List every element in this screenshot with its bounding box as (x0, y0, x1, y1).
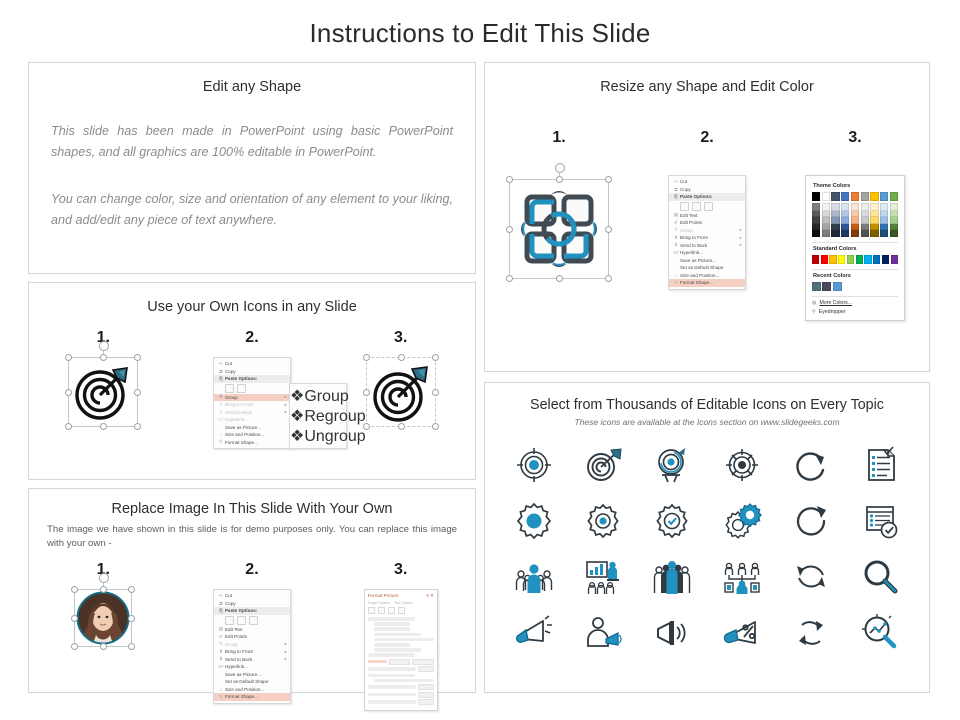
context-submenu-group[interactable]: ❖Group❖Regroup❖Ungroup (289, 383, 347, 449)
menu-item-glyph-icon: ⎘ (217, 608, 225, 613)
theme-tint-swatch[interactable] (831, 230, 839, 237)
theme-tint-swatch[interactable] (861, 203, 869, 211)
menu-item[interactable]: ❖Group▸ (214, 394, 290, 402)
format-picture-panel[interactable]: Format Picture ▾ ✕ Shape Options Text Op… (364, 589, 438, 711)
size-icon[interactable] (388, 607, 395, 614)
edit-shape-body: This slide has been made in PowerPoint u… (29, 95, 475, 231)
standard-color-swatch[interactable] (829, 255, 836, 264)
menu-item[interactable]: ✎Format Shape... (669, 279, 745, 287)
menu-item-glyph-icon: ✂ (672, 179, 680, 185)
theme-color-swatch[interactable] (880, 192, 888, 201)
replace-image-step-3: 3. Format Picture ▾ ✕ Shape Options Text… (327, 561, 474, 711)
menu-item[interactable]: ✐Edit Points (214, 633, 290, 641)
menu-item[interactable]: ὑ7Hyperlink... (214, 416, 290, 424)
menu-item-glyph-icon: ⧉ (217, 601, 225, 606)
menu-item-label: Edit Text (680, 213, 737, 218)
checklist-document-icon[interactable] (857, 443, 903, 487)
theme-tint-swatch[interactable] (822, 230, 830, 237)
theme-tint-swatch[interactable] (870, 203, 878, 211)
menu-item-glyph-icon: ✐ (217, 634, 225, 640)
step-number: 2. (245, 329, 258, 347)
menu-item-glyph-icon: ↕ (672, 273, 680, 278)
own-icons-steps: 1. (29, 329, 475, 449)
paste-option-icon[interactable] (225, 616, 234, 625)
recent-colors-heading: Recent Colors (813, 273, 898, 279)
rotate-arrows-icon[interactable] (788, 611, 834, 655)
crosshair-target-icon[interactable] (511, 443, 557, 487)
menu-item-label: Group (225, 395, 282, 400)
panel-title-icon-library: Select from Thousands of Editable Icons … (485, 397, 929, 413)
megaphone-icon[interactable] (511, 611, 557, 655)
format-pane-header: Format Picture ▾ ✕ (368, 593, 434, 599)
menu-item[interactable]: ⧉Copy (214, 600, 290, 608)
menu-item[interactable]: ⬇Send to Back▸ (214, 409, 290, 417)
menu-item-label: Save as Picture... (225, 672, 282, 677)
recent-color-swatch[interactable] (833, 282, 842, 291)
menu-item[interactable]: ↕Size and Position... (669, 272, 745, 280)
menu-item[interactable]: ⎘Paste Options: (669, 193, 745, 201)
theme-tint-swatch[interactable] (812, 203, 820, 211)
person-megaphone-icon[interactable] (580, 611, 626, 655)
menu-item-glyph-icon: ✂ (217, 361, 225, 367)
effects-icon[interactable] (378, 607, 385, 614)
menu-item-label: Cut (680, 179, 737, 184)
menu-item[interactable]: ὑ7Hyperlink... (669, 249, 745, 257)
menu-item[interactable]: ▤Edit Text (669, 212, 745, 220)
menu-item-glyph-icon: ⬇ (217, 656, 225, 662)
standard-colors-row[interactable] (812, 255, 898, 264)
menu-item-label: Size and Position... (680, 273, 737, 278)
menu-item[interactable]: ⧉Copy (214, 368, 290, 376)
theme-tint-swatch[interactable] (890, 203, 898, 211)
context-menu-format[interactable]: ✂Cut⧉Copy⎘Paste Options:▤Edit Text✐Edit … (213, 589, 291, 704)
paste-options-row[interactable] (669, 201, 745, 212)
option-row[interactable] (374, 633, 422, 637)
paste-option-icon[interactable] (692, 202, 701, 211)
eyedropper-option[interactable]: ⚲ Eyedropper (812, 309, 898, 315)
format-pane-title: Format Picture (368, 593, 399, 599)
width-row[interactable] (368, 684, 434, 690)
theme-tint-swatch[interactable] (861, 230, 869, 237)
submenu-arrow-icon: ▸ (282, 641, 287, 647)
submenu-arrow-icon: ▸ (282, 649, 287, 655)
menu-item-label: Edit Text (225, 627, 282, 632)
menu-item-label: Format Shape... (680, 280, 737, 285)
theme-tint-swatch[interactable] (841, 230, 849, 237)
theme-color-swatch[interactable] (831, 192, 839, 201)
menu-item-glyph-icon: ✎ (217, 439, 225, 445)
menu-item[interactable]: ⎘Paste Options: (214, 607, 290, 615)
menu-item[interactable]: ✎Format Shape... (214, 693, 290, 701)
menu-item-glyph-icon: ὑ7 (217, 664, 225, 669)
menu-item-label: Set as Default Shape (680, 265, 737, 270)
submenu-arrow-icon: ▸ (282, 394, 287, 400)
team-leader-icon[interactable] (511, 555, 557, 599)
theme-color-swatch[interactable] (812, 192, 820, 201)
height-row[interactable] (368, 692, 434, 698)
edit-shape-paragraph-2: You can change color, size and orientati… (51, 189, 453, 231)
gears-pair-icon[interactable] (719, 499, 765, 543)
recent-color-swatch[interactable] (822, 282, 831, 291)
menu-item[interactable]: Save as Picture... (669, 257, 745, 265)
menu-item[interactable]: ❖Group▸ (214, 641, 290, 649)
gear-ring-icon[interactable] (580, 499, 626, 543)
menu-item-glyph-icon: ὑ7 (217, 417, 225, 422)
theme-tint-swatch[interactable] (851, 230, 859, 237)
menu-item-glyph-icon: ✂ (217, 593, 225, 599)
circular-arrow-icon[interactable] (788, 499, 834, 543)
resize-step-1: 1. (486, 129, 633, 279)
checklist-approved-icon[interactable] (857, 499, 903, 543)
gear-filled-icon[interactable] (511, 499, 557, 543)
menu-item-label: Save as Picture... (680, 258, 737, 263)
menu-item[interactable]: ✂Cut (669, 178, 745, 186)
theme-color-swatch[interactable] (861, 192, 869, 201)
submenu-item-label: Regroup (304, 408, 365, 425)
menu-item-glyph-icon: ⎘ (672, 194, 680, 199)
section-heading-row (368, 617, 416, 621)
own-icons-step-2: 2. ✂Cut⧉Copy⎘Paste Options:❖Group▸⬆Bring… (178, 329, 325, 449)
standard-color-swatch[interactable] (882, 255, 889, 264)
refresh-arrow-icon[interactable] (788, 443, 834, 487)
menu-item[interactable]: Save as Picture... (214, 424, 290, 432)
selected-portrait-image[interactable] (74, 589, 132, 647)
menu-item-label: Group (225, 642, 282, 647)
menu-item-glyph-icon: ▤ (217, 626, 225, 632)
submenu-arrow-icon: ▸ (737, 242, 742, 248)
menu-item-glyph-icon: ⬇ (672, 242, 680, 248)
own-icons-step-1: 1. (30, 329, 177, 427)
context-menu[interactable]: ✂Cut⧉Copy⎘Paste Options:▤Edit Text✐Edit … (213, 589, 291, 704)
section-heading-row (368, 674, 416, 678)
theme-color-swatch[interactable] (822, 192, 830, 201)
menu-item-glyph-icon: ⬆ (217, 649, 225, 655)
theme-tint-swatch[interactable] (880, 230, 888, 237)
context-menu-group[interactable]: ✂Cut⧉Copy⎘Paste Options:❖Group▸⬆Bring to… (213, 357, 291, 449)
theme-tint-swatch[interactable] (841, 203, 849, 211)
menu-item-glyph-icon: ⬆ (672, 235, 680, 241)
option-row[interactable] (374, 679, 435, 683)
step-number: 2. (700, 129, 713, 147)
megaphone-percent-icon[interactable] (719, 611, 765, 655)
submenu-arrow-icon: ▸ (737, 235, 742, 241)
submenu-arrow-icon: ▸ (282, 402, 287, 408)
icon-library-subtitle: These icons are available at the Icons s… (485, 417, 929, 427)
menu-item-label: Send to Back (680, 243, 737, 248)
submenu-item-glyph-icon: ❖ (290, 408, 304, 425)
icon-grid (499, 443, 915, 655)
menu-item[interactable]: ⬆Bring to Front▸ (214, 648, 290, 656)
menu-item-label: Paste Options: (225, 376, 282, 381)
edit-shape-paragraph-1: This slide has been made in PowerPoint u… (51, 121, 453, 163)
menu-item[interactable]: ⎘Paste Options: (214, 375, 290, 383)
submenu-item[interactable]: ❖Group (290, 386, 346, 406)
standard-color-swatch[interactable] (847, 255, 854, 264)
menu-item-label: Hyperlink... (680, 250, 737, 255)
option-row[interactable] (374, 627, 410, 631)
standard-color-swatch[interactable] (812, 255, 819, 264)
menu-item[interactable]: ❖Group▸ (669, 227, 745, 235)
cap-row[interactable] (368, 699, 434, 705)
paste-option-icon[interactable] (237, 384, 246, 393)
magnifier-icon[interactable] (857, 555, 903, 599)
menu-item-label: Cut (225, 593, 282, 598)
menu-item-label: Format Shape... (225, 694, 282, 699)
menu-item-label: Cut (225, 361, 282, 366)
color-input-row[interactable] (368, 659, 434, 665)
paste-option-icon[interactable] (704, 202, 713, 211)
tab-text-options[interactable]: Text Options (394, 601, 413, 605)
paste-option-icon[interactable] (225, 384, 234, 393)
submenu-arrow-icon: ▸ (282, 656, 287, 662)
menu-item-label: Bring to Front (225, 649, 282, 654)
menu-item-glyph-icon: ✎ (672, 280, 680, 286)
paste-option-icon[interactable] (237, 616, 246, 625)
menu-item[interactable]: ⬇Send to Back▸ (214, 656, 290, 664)
tab-shape-options[interactable]: Shape Options (368, 601, 390, 605)
menu-item-glyph-icon: ⎘ (217, 376, 225, 381)
sync-arrows-icon[interactable] (788, 555, 834, 599)
recent-color-swatch[interactable] (812, 282, 821, 291)
resize-shape-steps: 1. (485, 129, 929, 321)
panel-own-icons: Use your Own Icons in any Slide 1. (28, 282, 476, 480)
submenu-item-glyph-icon: ❖ (290, 428, 304, 445)
target-arrow-icon[interactable] (580, 443, 626, 487)
color-picker[interactable]: Theme Colors Standard Colors Recent Colo… (805, 175, 905, 321)
theme-color-swatch[interactable] (890, 192, 898, 201)
panel-edit-any-shape: Edit any Shape This slide has been made … (28, 62, 476, 274)
menu-item-label: Copy (225, 369, 282, 374)
fill-icon[interactable] (368, 607, 375, 614)
menu-item[interactable]: ↕Size and Position... (214, 686, 290, 694)
section-heading-row (368, 653, 416, 657)
theme-tint-swatch[interactable] (870, 230, 878, 237)
target-stand-icon[interactable] (649, 443, 695, 487)
panel-replace-image: Replace Image In This Slide With Your Ow… (28, 488, 476, 693)
option-row[interactable] (374, 648, 422, 652)
theme-tint-swatch[interactable] (851, 203, 859, 211)
standard-color-swatch[interactable] (856, 255, 863, 264)
panel-title-own-icons: Use your Own Icons in any Slide (29, 299, 475, 315)
step-number: 3. (394, 329, 407, 347)
ungrouped-target-icon[interactable] (366, 357, 436, 427)
menu-item-glyph-icon: ὑ7 (672, 250, 680, 255)
replace-image-step-1: 1. (30, 561, 177, 647)
step-number: 2. (245, 561, 258, 579)
speaker-icon[interactable] (649, 611, 695, 655)
menu-item-glyph-icon: ❖ (672, 227, 680, 233)
more-colors-label: More Colors... (820, 300, 853, 306)
replace-image-lead: The image we have shown in this slide is… (47, 523, 457, 551)
menu-item[interactable]: ⧉Copy (669, 186, 745, 194)
menu-item-label: Bring to Front (225, 402, 282, 407)
standard-color-swatch[interactable] (864, 255, 871, 264)
menu-item[interactable]: ⬇Send to Back▸ (669, 242, 745, 250)
menu-item[interactable]: ✎Format Shape... (214, 439, 290, 447)
format-pane-close-icon[interactable]: ▾ ✕ (427, 593, 434, 599)
selected-quad-shape[interactable] (509, 179, 609, 279)
magnifier-analytics-icon[interactable] (857, 611, 903, 655)
theme-color-swatch[interactable] (851, 192, 859, 201)
format-picture-pane[interactable]: Format Picture ▾ ✕ Shape Options Text Op… (364, 589, 438, 711)
menu-item[interactable]: ✂Cut (214, 592, 290, 600)
option-row[interactable] (374, 622, 410, 626)
option-row[interactable] (374, 638, 435, 642)
menu-item-glyph-icon: ↕ (217, 432, 225, 437)
panel-icon-library: Select from Thousands of Editable Icons … (484, 382, 930, 693)
menu-item-label: Copy (225, 601, 282, 606)
menu-item-label: Edit Points (225, 634, 282, 639)
menu-item-glyph-icon: ⬇ (217, 409, 225, 415)
theme-tint-swatch[interactable] (880, 203, 888, 211)
transparency-row[interactable] (368, 666, 434, 672)
theme-tint-swatch[interactable] (822, 203, 830, 211)
menu-item[interactable]: Set as Default Shape (214, 678, 290, 686)
theme-tint-swatch[interactable] (812, 230, 820, 237)
menu-item-label: Size and Position... (225, 687, 282, 692)
theme-colors-row[interactable] (812, 192, 898, 201)
panel-title-resize-shape: Resize any Shape and Edit Color (485, 79, 929, 95)
menu-item-glyph-icon: ↕ (217, 687, 225, 692)
menu-item-label: Size and Position... (225, 432, 282, 437)
menu-item[interactable]: ⬆Bring to Front▸ (214, 401, 290, 409)
step-number: 1. (552, 129, 565, 147)
menu-item-label: Paste Options: (680, 194, 737, 199)
theme-color-swatch[interactable] (841, 192, 849, 201)
menu-item-label: Bring to Front (680, 235, 737, 240)
theme-colors-heading: Theme Colors (813, 183, 898, 189)
submenu-item[interactable]: ❖Regroup (290, 406, 346, 426)
standard-color-swatch[interactable] (838, 255, 845, 264)
panel-title-replace-image: Replace Image In This Slide With Your Ow… (29, 501, 475, 517)
submenu-item-label: Group (304, 388, 348, 405)
submenu-arrow-icon: ▸ (737, 227, 742, 233)
selected-target-icon[interactable] (68, 357, 138, 427)
resize-step-3: 3. Theme Colors Standard Colors Recent C… (782, 129, 929, 321)
picture-icon[interactable] (398, 607, 405, 614)
context-menu-format-shape[interactable]: ✂Cut⧉Copy⎘Paste Options:▤Edit Text✐Edit … (668, 175, 746, 290)
recent-colors-row[interactable] (812, 282, 898, 291)
color-picker-panel[interactable]: Theme Colors Standard Colors Recent Colo… (805, 175, 905, 321)
theme-tints-grid[interactable] (812, 203, 898, 237)
page-title: Instructions to Edit This Slide (0, 18, 960, 49)
org-chart-icon[interactable] (719, 555, 765, 599)
menu-item-label: Format Shape... (225, 440, 282, 445)
slide-canvas: Instructions to Edit This Slide Edit any… (0, 0, 960, 720)
theme-tint-swatch[interactable] (890, 230, 898, 237)
menu-item[interactable]: Set as Default Shape (669, 264, 745, 272)
menu-item-label: Group (680, 228, 737, 233)
step-number: 3. (848, 129, 861, 147)
menu-item[interactable]: ⬆Bring to Front▸ (669, 234, 745, 242)
menu-item[interactable]: ▤Edit Text (214, 626, 290, 634)
format-pane-tabs[interactable]: Shape Options Text Options (368, 601, 434, 605)
replace-image-steps: 1. (29, 561, 475, 711)
standard-color-swatch[interactable] (891, 255, 898, 264)
menu-item-label: Hyperlink... (225, 417, 282, 422)
menu-item[interactable]: ✂Cut (214, 360, 290, 368)
theme-tint-row (812, 230, 898, 237)
standard-color-swatch[interactable] (873, 255, 880, 264)
option-row[interactable] (374, 643, 410, 647)
menu-item-label: Paste Options: (225, 608, 282, 613)
submenu-item-glyph-icon: ❖ (290, 388, 304, 405)
paste-options-row[interactable] (214, 615, 290, 626)
theme-tint-swatch[interactable] (831, 203, 839, 211)
team-group-icon[interactable] (649, 555, 695, 599)
panel-title-edit-shape: Edit any Shape (29, 79, 475, 95)
eyedropper-icon: ⚲ (812, 309, 816, 315)
theme-color-swatch[interactable] (870, 192, 878, 201)
paste-options-row[interactable] (214, 383, 290, 394)
theme-tint-row (812, 203, 898, 211)
menu-item-label: Set as Default Shape (225, 679, 282, 684)
eyedropper-label: Eyedropper (819, 309, 846, 315)
menu-item[interactable]: ὑ7Hyperlink... (214, 663, 290, 671)
more-colors-option[interactable]: ◍ More Colors... (812, 300, 898, 306)
paste-option-icon[interactable] (680, 202, 689, 211)
menu-item-label: Hyperlink... (225, 664, 282, 669)
menu-item[interactable]: Save as Picture... (214, 671, 290, 679)
presentation-audience-icon[interactable] (580, 555, 626, 599)
paste-option-icon[interactable] (249, 616, 258, 625)
panel-resize-shape: Resize any Shape and Edit Color 1. (484, 62, 930, 372)
menu-item-glyph-icon: ⧉ (217, 369, 225, 374)
gear-check-icon[interactable] (649, 499, 695, 543)
target-scope-icon[interactable] (719, 443, 765, 487)
format-pane-icon-row[interactable] (368, 607, 434, 614)
standard-color-swatch[interactable] (821, 255, 828, 264)
menu-item-label: Save as Picture... (225, 425, 282, 430)
step-number: 3. (394, 561, 407, 579)
submenu-item-label: Ungroup (304, 428, 365, 445)
menu-item-label: Send to Back (225, 410, 282, 415)
menu-item[interactable]: ↕Size and Position... (214, 431, 290, 439)
menu-item-glyph-icon: ✐ (672, 220, 680, 226)
menu-item-glyph-icon: ▤ (672, 212, 680, 218)
menu-item-glyph-icon: ⬆ (217, 402, 225, 408)
replace-image-step-2: 2. ✂Cut⧉Copy⎘Paste Options:▤Edit Text✐Ed… (178, 561, 325, 704)
menu-item-glyph-icon: ❖ (217, 394, 225, 400)
standard-colors-heading: Standard Colors (813, 246, 898, 252)
menu-item-label: Copy (680, 187, 737, 192)
palette-icon: ◍ (812, 300, 817, 306)
resize-step-2: 2. ✂Cut⧉Copy⎘Paste Options:▤Edit Text✐Ed… (634, 129, 781, 290)
menu-item[interactable]: ✐Edit Points (669, 219, 745, 227)
menu-item-label: Send to Back (225, 657, 282, 662)
submenu-arrow-icon: ▸ (282, 409, 287, 415)
submenu-item[interactable]: ❖Ungroup (290, 426, 346, 446)
context-menu[interactable]: ✂Cut⧉Copy⎘Paste Options:❖Group▸⬆Bring to… (213, 357, 291, 449)
menu-item-glyph-icon: ✎ (217, 694, 225, 700)
menu-item-label: Edit Points (680, 220, 737, 225)
menu-item-glyph-icon: ❖ (217, 641, 225, 647)
menu-item-glyph-icon: ⧉ (672, 187, 680, 192)
context-menu[interactable]: ✂Cut⧉Copy⎘Paste Options:▤Edit Text✐Edit … (668, 175, 746, 290)
